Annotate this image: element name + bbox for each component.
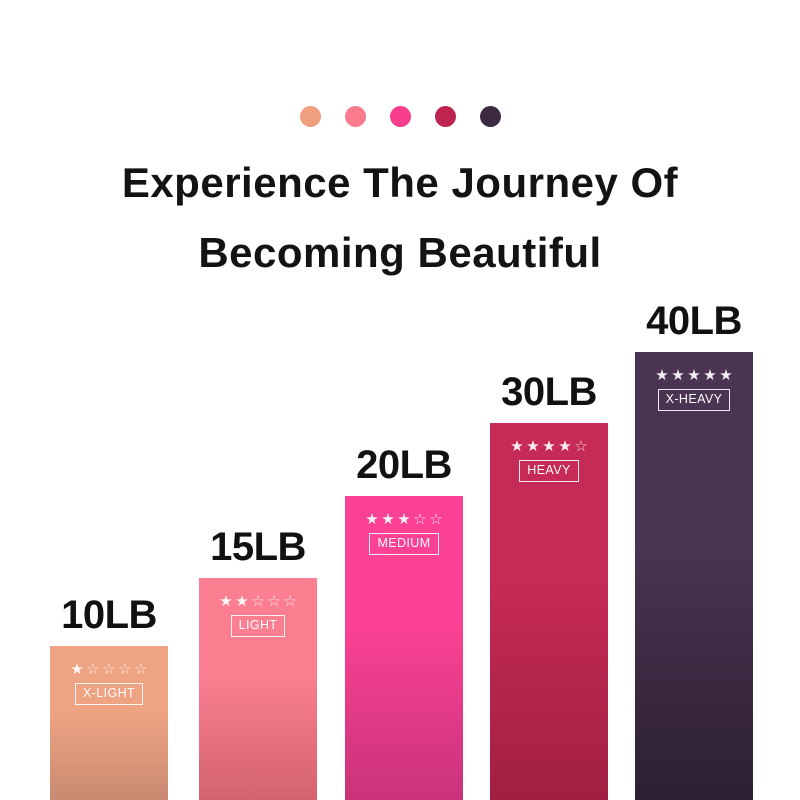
star-empty-icon: ☆: [86, 662, 100, 677]
bar-group-20lb[interactable]: 20LB★★★☆☆MEDIUM: [345, 496, 463, 800]
resistance-level-label: X-LIGHT: [75, 683, 143, 705]
bar-fill: [635, 352, 753, 800]
star-empty-icon: ☆: [267, 594, 281, 609]
star-empty-icon: ☆: [413, 512, 427, 527]
bar-weight-label: 40LB: [635, 301, 753, 352]
bar-group-15lb[interactable]: 15LB★★☆☆☆LIGHT: [199, 578, 317, 800]
star-filled-icon: ★: [526, 439, 540, 454]
resistance-bar-chart: 10LB★☆☆☆☆X-LIGHT15LB★★☆☆☆LIGHT20LB★★★☆☆M…: [0, 0, 800, 800]
star-filled-icon: ★: [719, 368, 733, 383]
star-empty-icon: ☆: [118, 662, 132, 677]
star-empty-icon: ☆: [574, 439, 588, 454]
bar-column[interactable]: ★★★★★X-HEAVY: [635, 352, 753, 800]
bar-weight-label: 30LB: [490, 372, 608, 423]
resistance-level-label: LIGHT: [231, 615, 286, 637]
star-rating: ★☆☆☆☆: [70, 662, 148, 677]
star-filled-icon: ★: [558, 439, 572, 454]
star-empty-icon: ☆: [251, 594, 265, 609]
star-filled-icon: ★: [510, 439, 524, 454]
bar-column[interactable]: ★★★★☆HEAVY: [490, 423, 608, 800]
star-filled-icon: ★: [703, 368, 717, 383]
bar-weight-label: 10LB: [50, 595, 168, 646]
bar-column[interactable]: ★☆☆☆☆X-LIGHT: [50, 646, 168, 800]
star-empty-icon: ☆: [429, 512, 443, 527]
resistance-band-poster: Experience The Journey Of Becoming Beaut…: [0, 0, 800, 800]
star-rating: ★★☆☆☆: [219, 594, 297, 609]
bar-badge: ★★★★★X-HEAVY: [635, 368, 753, 411]
bar-weight-label: 20LB: [345, 445, 463, 496]
star-filled-icon: ★: [671, 368, 685, 383]
star-empty-icon: ☆: [134, 662, 148, 677]
bar-group-40lb[interactable]: 40LB★★★★★X-HEAVY: [635, 352, 753, 800]
star-filled-icon: ★: [687, 368, 701, 383]
resistance-level-label: MEDIUM: [369, 533, 438, 555]
star-filled-icon: ★: [235, 594, 249, 609]
star-filled-icon: ★: [70, 662, 84, 677]
resistance-level-label: X-HEAVY: [658, 389, 731, 411]
bar-badge: ★★☆☆☆LIGHT: [199, 594, 317, 637]
bar-group-30lb[interactable]: 30LB★★★★☆HEAVY: [490, 423, 608, 800]
star-empty-icon: ☆: [283, 594, 297, 609]
star-rating: ★★★★☆: [510, 439, 588, 454]
bar-group-10lb[interactable]: 10LB★☆☆☆☆X-LIGHT: [50, 646, 168, 800]
star-filled-icon: ★: [219, 594, 233, 609]
star-filled-icon: ★: [365, 512, 379, 527]
star-rating: ★★★★★: [655, 368, 733, 383]
bar-column[interactable]: ★★★☆☆MEDIUM: [345, 496, 463, 800]
bar-column[interactable]: ★★☆☆☆LIGHT: [199, 578, 317, 800]
bar-badge: ★★★★☆HEAVY: [490, 439, 608, 482]
star-filled-icon: ★: [397, 512, 411, 527]
star-filled-icon: ★: [655, 368, 669, 383]
resistance-level-label: HEAVY: [519, 460, 578, 482]
bar-badge: ★★★☆☆MEDIUM: [345, 512, 463, 555]
star-filled-icon: ★: [381, 512, 395, 527]
star-empty-icon: ☆: [102, 662, 116, 677]
bar-weight-label: 15LB: [199, 527, 317, 578]
bar-badge: ★☆☆☆☆X-LIGHT: [50, 662, 168, 705]
star-rating: ★★★☆☆: [365, 512, 443, 527]
star-filled-icon: ★: [542, 439, 556, 454]
